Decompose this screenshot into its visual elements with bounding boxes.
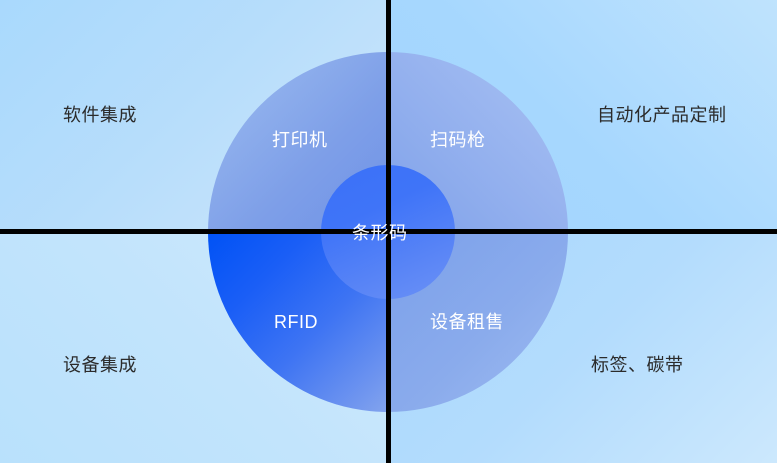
outer-label-software-integration: 软件集成 <box>63 106 137 124</box>
ring-label-rental: 设备租售 <box>430 313 504 331</box>
ring-label-printer: 打印机 <box>272 131 328 149</box>
outer-label-automation-custom: 自动化产品定制 <box>597 106 727 124</box>
diagram-canvas: 条形码 打印机 扫码枪 RFID 设备租售 软件集成 自动化产品定制 设备集成 … <box>0 0 777 463</box>
core-label-barcode: 条形码 <box>352 224 408 242</box>
ring-label-rfid: RFID <box>274 313 318 331</box>
outer-label-device-integration: 设备集成 <box>63 356 137 374</box>
ring-label-scanner: 扫码枪 <box>430 131 486 149</box>
outer-label-labels-ribbons: 标签、碳带 <box>591 356 684 374</box>
